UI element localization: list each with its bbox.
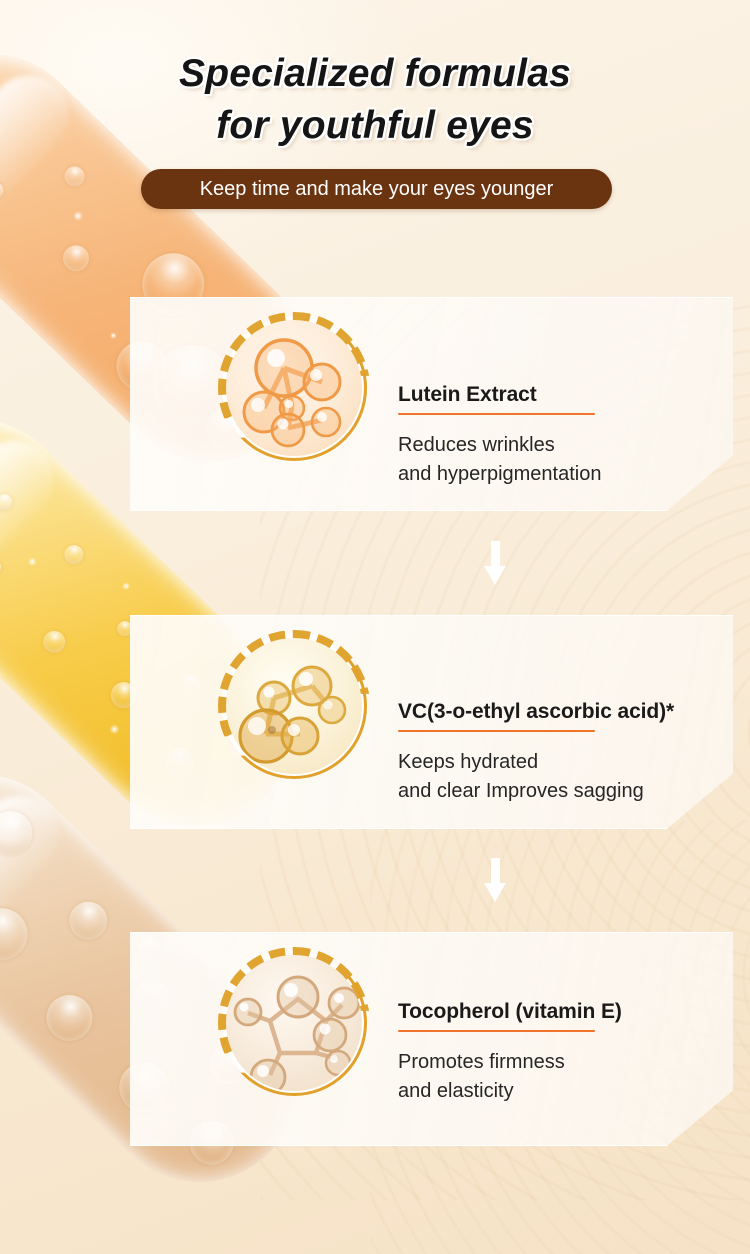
ingredient-description: Promotes firmness and elasticity bbox=[398, 1048, 728, 1106]
ingredient-description: Keeps hydrated and clear Improves saggin… bbox=[398, 748, 728, 806]
ingredient-title: Lutein Extract bbox=[398, 383, 728, 407]
ingredient-text-tocopherol: Tocopherol (vitamin E) Promotes firmness… bbox=[398, 1000, 728, 1106]
ingredient-description: Reduces wrinkles and hyperpigmentation bbox=[398, 431, 728, 489]
badge-tocopherol bbox=[218, 947, 370, 1099]
arrow-down-icon bbox=[484, 541, 507, 585]
title-underline bbox=[398, 730, 595, 732]
badge-lutein bbox=[218, 312, 370, 464]
arrow-down-icon bbox=[484, 858, 507, 902]
promo-page: Specialized formulas for youthful eyes K… bbox=[0, 0, 750, 1254]
title-underline bbox=[398, 1030, 595, 1032]
subtitle-banner: Keep time and make your eyes younger bbox=[141, 169, 612, 209]
ingredient-title: VC(3-o-ethyl ascorbic acid)* bbox=[398, 700, 728, 724]
ingredient-title: Tocopherol (vitamin E) bbox=[398, 1000, 728, 1024]
ingredient-text-vitamin-c: VC(3-o-ethyl ascorbic acid)* Keeps hydra… bbox=[398, 700, 728, 806]
title-underline bbox=[398, 413, 595, 415]
ingredient-text-lutein: Lutein Extract Reduces wrinkles and hype… bbox=[398, 383, 728, 489]
badge-vitamin-c bbox=[218, 630, 370, 782]
page-title: Specialized formulas for youthful eyes bbox=[0, 48, 750, 152]
